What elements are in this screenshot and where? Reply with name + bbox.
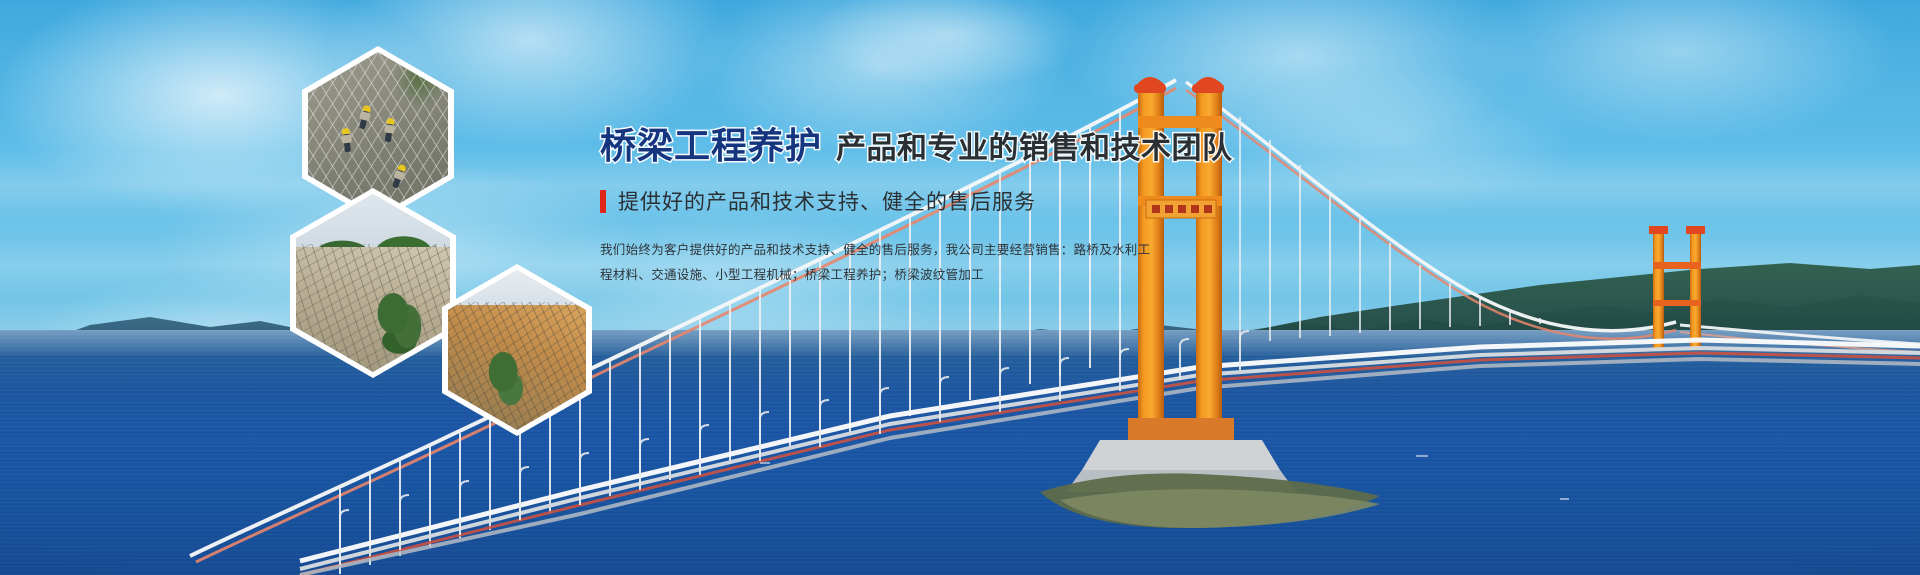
hexagon-photo-group bbox=[0, 0, 700, 575]
headline-secondary: 产品和专业的销售和技术团队 bbox=[836, 134, 1233, 164]
headline: 桥梁工程养护 产品和专业的销售和技术团队 bbox=[600, 128, 1360, 164]
description-paragraph: 我们始终为客户提供好的产品和技术支持、健全的售后服务，我公司主要经营销售：路桥及… bbox=[600, 238, 1160, 288]
photo-cut-slope bbox=[448, 270, 586, 430]
hero-banner: 桥梁工程养护 产品和专业的销售和技术团队 提供好的产品和技术支持、健全的售后服务… bbox=[0, 0, 1920, 575]
tree-shape bbox=[367, 279, 432, 364]
tree-shape bbox=[478, 337, 533, 420]
cloud-shape bbox=[1380, 0, 1920, 180]
banner-copy: 桥梁工程养护 产品和专业的销售和技术团队 提供好的产品和技术支持、健全的售后服务… bbox=[600, 128, 1360, 288]
headline-primary: 桥梁工程养护 bbox=[600, 128, 822, 164]
tagline-text: 提供好的产品和技术支持、健全的售后服务 bbox=[618, 186, 1036, 216]
accent-bar-icon bbox=[600, 190, 606, 213]
tagline-row: 提供好的产品和技术支持、健全的售后服务 bbox=[600, 186, 1360, 216]
cloud-shape bbox=[760, 0, 1140, 110]
hex-photo-vegetated-slope-mesh[interactable] bbox=[290, 188, 456, 378]
photo-vegetated-slope bbox=[296, 194, 450, 372]
hex-photo-cut-slope-mesh[interactable] bbox=[442, 264, 592, 436]
